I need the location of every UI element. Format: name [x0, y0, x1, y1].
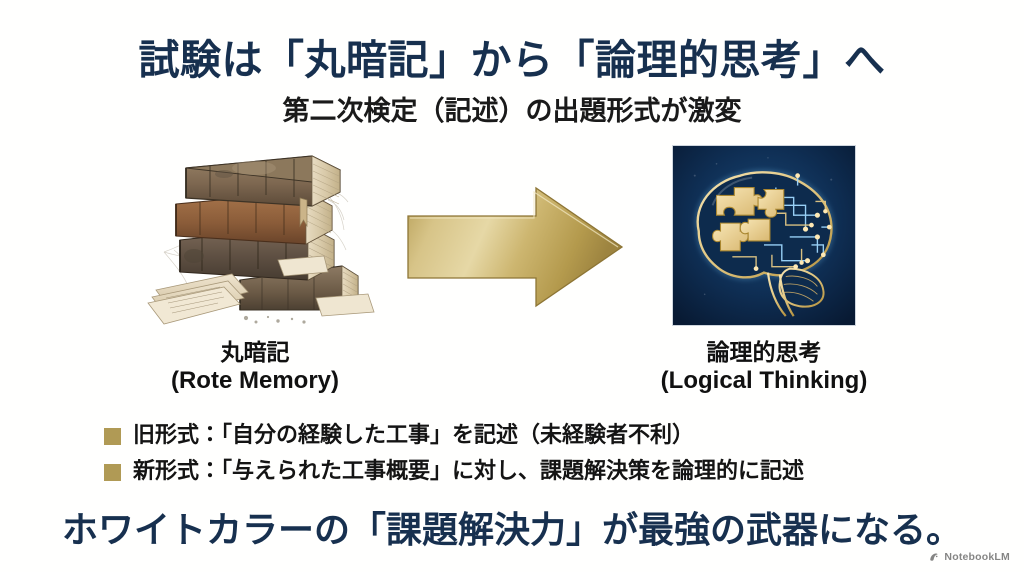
- right-caption-en: (Logical Thinking): [632, 366, 896, 395]
- notebooklm-watermark-label: NotebookLM: [944, 551, 1010, 563]
- square-bullet-icon: [104, 464, 121, 481]
- notebooklm-watermark: NotebookLM: [928, 551, 1010, 563]
- list-item: 新形式：「与えられた工事概要」に対し、課題解決策を論理的に記述: [104, 457, 984, 485]
- conclusion-text: ホワイトカラーの「課題解決力」が最強の武器になる。: [0, 501, 1024, 553]
- bullet-text: 新形式：「与えられた工事概要」に対し、課題解決策を論理的に記述: [133, 457, 804, 485]
- old-books-illustration: [128, 140, 380, 325]
- left-caption: 丸暗記 (Rote Memory): [124, 338, 386, 395]
- ai-brain-illustration: [672, 145, 856, 326]
- right-caption-jp: 論理的思考: [632, 338, 896, 366]
- page-title: 試験は「丸暗記」から「論理的思考」へ: [0, 26, 1024, 86]
- slide-canvas: 試験は「丸暗記」から「論理的思考」へ 第二次検定（記述）の出題形式が激変: [0, 0, 1024, 572]
- square-bullet-icon: [104, 428, 121, 445]
- gold-right-arrow-icon: [404, 186, 626, 308]
- right-caption: 論理的思考 (Logical Thinking): [632, 338, 896, 395]
- notebooklm-logo-icon: [928, 551, 940, 563]
- bullet-list: 旧形式：「自分の経験した工事」を記述（未経験者不利） 新形式：「与えられた工事概…: [104, 421, 984, 493]
- page-subtitle: 第二次検定（記述）の出題形式が激変: [0, 89, 1024, 128]
- list-item: 旧形式：「自分の経験した工事」を記述（未経験者不利）: [104, 421, 984, 449]
- left-caption-jp: 丸暗記: [124, 338, 386, 366]
- bullet-text: 旧形式：「自分の経験した工事」を記述（未経験者不利）: [133, 421, 694, 449]
- left-caption-en: (Rote Memory): [124, 366, 386, 395]
